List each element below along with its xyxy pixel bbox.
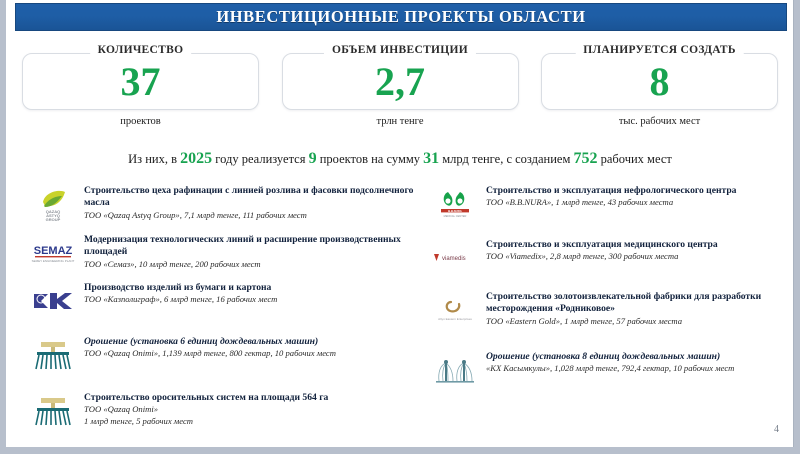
project-title: Строительство и эксплуатация нефрологиче…	[486, 185, 736, 197]
svg-text:Altyn Eastern Enterprises: Altyn Eastern Enterprises	[438, 317, 472, 321]
project-text: Строительство цеха рафинации с линией ро…	[84, 184, 416, 221]
stat-card-unit: трлн тенге	[282, 116, 519, 127]
bb-nura-logo: B.B.NURA MEDICAL CENTER	[430, 184, 480, 222]
project-meta: ТОО «Qazaq Onimi», 1,139 млрд тенге, 800…	[84, 348, 336, 359]
project-title: Производство изделий из бумаги и картона	[84, 282, 277, 294]
project-title: Строительство цеха рафинации с линией ро…	[84, 185, 416, 210]
irrigation-machine-logo	[28, 391, 78, 429]
summary-text-1: Из них, в	[128, 152, 180, 166]
svg-text:SEMEY ENGINEERING PLANT: SEMEY ENGINEERING PLANT	[32, 259, 75, 263]
project-meta: ТОО «Семаз», 10 млрд тенге, 200 рабочих …	[84, 259, 416, 270]
project-meta: «КХ Касымкулы», 1,028 млрд тенге, 792,4 …	[486, 363, 734, 374]
project-item[interactable]: Производство изделий из бумаги и картона…	[28, 281, 416, 319]
project-text: Строительство и эксплуатация нефрологиче…	[486, 184, 736, 209]
summary-projects-count: 9	[309, 150, 317, 167]
svg-text:GROUP: GROUP	[46, 217, 61, 222]
project-text: Орошение (установка 8 единиц дождевальны…	[486, 350, 734, 375]
semaz-logo: SEMAZ SEMEY ENGINEERING PLANT	[28, 233, 78, 271]
summary-year: 2025	[180, 150, 212, 167]
project-item[interactable]: Строительство оросительных систем на пло…	[28, 391, 416, 429]
summary-line: Из них, в 2025 году реализуется 9 проект…	[6, 150, 794, 168]
project-item[interactable]: Орошение (установка 8 единиц дождевальны…	[430, 350, 792, 388]
page-title: ИНВЕСТИЦИОННЫЕ ПРОЕКТЫ ОБЛАСТИ	[216, 7, 585, 27]
project-text: Строительство золотоизвлекательной фабри…	[486, 290, 792, 327]
summary-amount: 31	[423, 150, 439, 167]
kazpoligraf-logo	[28, 281, 78, 319]
project-title: Орошение (установка 6 единиц дождевальны…	[84, 336, 336, 348]
slide-canvas: ИНВЕСТИЦИОННЫЕ ПРОЕКТЫ ОБЛАСТИ КОЛИЧЕСТВ…	[6, 0, 793, 447]
project-item[interactable]: QAZAQ ASTYQ GROUP Строительство цеха раф…	[28, 184, 416, 222]
project-item[interactable]: Орошение (установка 6 единиц дождевальны…	[28, 335, 416, 373]
summary-text-5: рабочих мест	[598, 152, 672, 166]
project-title: Строительство оросительных систем на пло…	[84, 392, 328, 404]
project-meta-line2: 1 млрд тенге, 5 рабочих мест	[84, 416, 328, 427]
svg-text:MEDICAL CENTER: MEDICAL CENTER	[444, 214, 467, 218]
stat-card-label: ПЛАНИРУЕТСЯ СОЗДАТЬ	[575, 44, 744, 56]
slide-frame: ИНВЕСТИЦИОННЫЕ ПРОЕКТЫ ОБЛАСТИ КОЛИЧЕСТВ…	[6, 0, 794, 447]
project-meta: ТОО «B.B.NURA», 1 млрд тенге, 43 рабочих…	[486, 197, 736, 208]
svg-text:SEMAZ: SEMAZ	[34, 245, 73, 257]
project-text: Производство изделий из бумаги и картона…	[84, 281, 277, 306]
project-meta: ТОО «Viamedix», 2,8 млрд тенге, 300 рабо…	[486, 251, 718, 262]
project-item[interactable]: Altyn Eastern Enterprises Строительство …	[430, 290, 792, 328]
stat-card-label: КОЛИЧЕСТВО	[90, 44, 192, 56]
summary-text-2: году реализуется	[212, 152, 308, 166]
project-list-right: B.B.NURA MEDICAL CENTER Строительство и …	[430, 184, 792, 398]
stat-card-value: 2,7	[282, 56, 519, 108]
project-meta: ТОО «Qazaq Astyq Group», 7,1 млрд тенге,…	[84, 210, 416, 221]
stat-card-value: 8	[541, 56, 778, 108]
stat-card-jobs-planned: ПЛАНИРУЕТСЯ СОЗДАТЬ 8 тыс. рабочих мест	[541, 44, 778, 140]
project-title: Строительство и эксплуатация медицинског…	[486, 239, 718, 251]
project-text: Модернизация технологических линий и рас…	[84, 233, 416, 270]
project-title: Модернизация технологических линий и рас…	[84, 234, 416, 259]
project-text: Орошение (установка 6 единиц дождевальны…	[84, 335, 336, 360]
project-item[interactable]: viamedis Строительство и эксплуатация ме…	[430, 238, 792, 276]
project-meta: ТОО «Eastern Gold», 1 млрд тенге, 57 раб…	[486, 316, 792, 327]
project-text: Строительство и эксплуатация медицинског…	[486, 238, 718, 263]
stat-cards-row: КОЛИЧЕСТВО 37 проектов ОБЪЕМ ИНВЕСТИЦИИ …	[22, 44, 778, 140]
stat-card-investment-volume: ОБЪЕМ ИНВЕСТИЦИИ 2,7 трлн тенге	[282, 44, 519, 140]
page-number: 4	[774, 424, 779, 435]
irrigation-sprinkler-logo	[430, 350, 480, 388]
project-meta: ТОО «Qazaq Onimi»	[84, 404, 328, 415]
summary-text-4: млрд тенге, с созданием	[439, 152, 573, 166]
stat-card-label: ОБЪЕМ ИНВЕСТИЦИИ	[324, 44, 476, 56]
project-item[interactable]: SEMAZ SEMEY ENGINEERING PLANT Модернизац…	[28, 233, 416, 271]
project-meta: ТОО «Казполиграф», 6 млрд тенге, 16 рабо…	[84, 294, 277, 305]
summary-text-3: проектов на сумму	[317, 152, 424, 166]
eastern-gold-logo: Altyn Eastern Enterprises	[430, 290, 480, 328]
svg-text:viamedis: viamedis	[442, 256, 466, 262]
stat-card-count: КОЛИЧЕСТВО 37 проектов	[22, 44, 259, 140]
window-bottom-edge	[0, 447, 800, 454]
project-title: Строительство золотоизвлекательной фабри…	[486, 291, 792, 316]
slide-header-bar: ИНВЕСТИЦИОННЫЕ ПРОЕКТЫ ОБЛАСТИ	[15, 3, 787, 31]
summary-jobs: 752	[574, 150, 598, 167]
stat-card-value: 37	[22, 56, 259, 108]
svg-text:B.B.NURA: B.B.NURA	[448, 209, 462, 213]
project-text: Строительство оросительных систем на пло…	[84, 391, 328, 427]
project-title: Орошение (установка 8 единиц дождевальны…	[486, 351, 734, 363]
stat-card-unit: тыс. рабочих мест	[541, 116, 778, 127]
project-list-left: QAZAQ ASTYQ GROUP Строительство цеха раф…	[28, 184, 416, 439]
project-item[interactable]: B.B.NURA MEDICAL CENTER Строительство и …	[430, 184, 792, 222]
stat-card-unit: проектов	[22, 116, 259, 127]
qazaq-astyq-group-logo: QAZAQ ASTYQ GROUP	[28, 184, 78, 222]
irrigation-machine-logo	[28, 335, 78, 373]
viamedis-logo: viamedis	[430, 238, 480, 276]
